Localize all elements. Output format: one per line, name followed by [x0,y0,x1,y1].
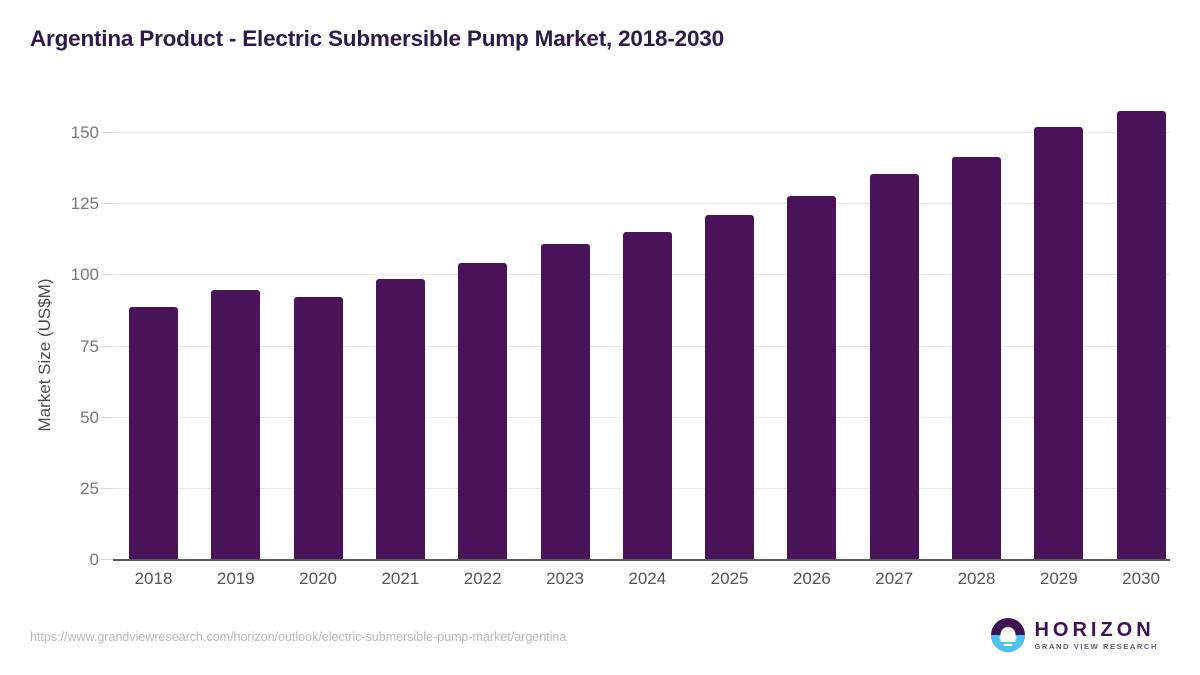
bar-2023[interactable] [541,244,590,559]
logo-tagline: GRAND VIEW RESEARCH [1034,643,1158,651]
bar-2021[interactable] [376,279,425,559]
y-axis-tick-mark [101,203,113,204]
x-axis-tick-label-2029: 2029 [1019,570,1099,587]
x-axis-tick-label-2021: 2021 [360,570,440,587]
bar-2025[interactable] [705,215,754,559]
bar-2027[interactable] [870,174,919,559]
bar-2024[interactable] [623,232,672,559]
logo-ray-2 [1002,640,1015,642]
x-axis-tick-label-2027: 2027 [854,570,934,587]
x-axis-tick-label-2024: 2024 [607,570,687,587]
x-axis-tick-label-2028: 2028 [937,570,1017,587]
y-axis-tick-label: 150 [27,124,99,141]
page-title: Argentina Product - Electric Submersible… [30,26,724,52]
x-axis-tick-label-2019: 2019 [196,570,276,587]
logo-text-block: HORIZON GRAND VIEW RESEARCH [1034,620,1158,651]
x-axis-tick-label-2030: 2030 [1101,570,1181,587]
horizon-logo: HORIZON GRAND VIEW RESEARCH [991,618,1158,652]
plot-area [113,132,1170,559]
x-axis-tick-label-2020: 2020 [278,570,358,587]
y-axis-tick-label: 100 [27,266,99,283]
x-axis-tick-label-2018: 2018 [114,570,194,587]
logo-wordmark: HORIZON [1034,620,1158,640]
x-axis-line [113,559,1170,561]
bar-2019[interactable] [211,290,260,559]
x-axis-tick-label-2023: 2023 [525,570,605,587]
x-axis-tick-label-2022: 2022 [443,570,523,587]
y-axis-tick-label: 125 [27,195,99,212]
bar-2030[interactable] [1117,111,1166,559]
horizon-sun-circle-icon [991,618,1025,652]
y-axis-tick-label: 75 [27,338,99,355]
bar-2028[interactable] [952,157,1001,559]
bar-2026[interactable] [787,196,836,559]
source-url-text: https://www.grandviewresearch.com/horizo… [30,630,566,644]
y-axis-tick-mark [101,417,113,418]
bar-2020[interactable] [294,297,343,559]
gridline [113,203,1170,204]
bar-2022[interactable] [458,263,507,559]
bar-2018[interactable] [129,307,178,559]
x-axis-tick-label-2026: 2026 [772,570,852,587]
logo-ray-1 [1000,637,1017,639]
y-axis-tick-mark [101,488,113,489]
y-axis-tick-mark [101,132,113,133]
x-axis-tick-label-2025: 2025 [690,570,770,587]
y-axis-tick-label: 0 [27,551,99,568]
y-axis-tick-mark [101,346,113,347]
chart-page: Argentina Product - Electric Submersible… [0,0,1200,675]
logo-ray-3 [1004,644,1013,646]
y-axis-tick-mark [101,274,113,275]
y-axis-tick-label: 25 [27,480,99,497]
bar-2029[interactable] [1034,127,1083,559]
y-axis-tick-label: 50 [27,409,99,426]
y-axis-tick-mark [101,559,113,560]
gridline [113,132,1170,133]
